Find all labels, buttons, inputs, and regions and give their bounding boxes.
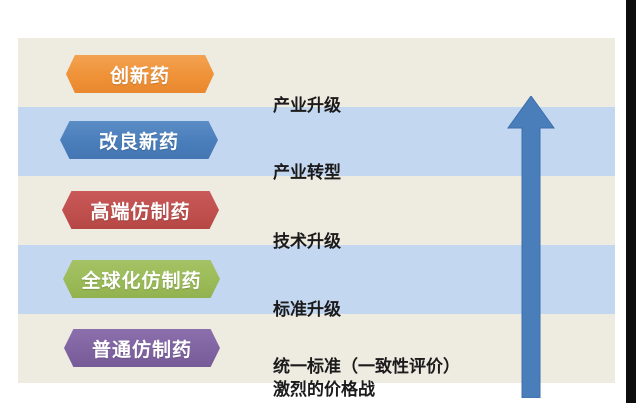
badge-label: 创新药: [110, 61, 170, 88]
caption-industry-transformation: 产业转型: [273, 162, 341, 185]
badge-label: 普通仿制药: [92, 335, 192, 362]
right-edge-strip: [626, 0, 636, 403]
caption-line-2: 激烈的价格战: [273, 379, 460, 402]
stage-panel: 创新药 改良新药 高端仿制药 全球化仿制药 普通仿制药 产业升级 产业转型 技术…: [18, 38, 615, 383]
caption-line-1: 统一标准（一致性评价）: [273, 356, 460, 379]
badge-label: 全球化仿制药: [81, 266, 201, 293]
diagram-canvas: 创新药 改良新药 高端仿制药 全球化仿制药 普通仿制药 产业升级 产业转型 技术…: [0, 0, 636, 403]
caption-standard-upgrade: 标准升级: [273, 299, 341, 322]
badge-high-end-generic: 高端仿制药: [62, 191, 219, 229]
badge-label: 高端仿制药: [90, 197, 190, 224]
upward-arrow-icon: [507, 96, 555, 398]
badge-ordinary-generic: 普通仿制药: [64, 329, 220, 367]
badge-label: 改良新药: [99, 127, 179, 154]
badge-improved-new-drug: 改良新药: [60, 121, 218, 159]
caption-technology-upgrade: 技术升级: [273, 231, 341, 254]
caption-industry-upgrade: 产业升级: [273, 95, 341, 118]
caption-unified-standard: 统一标准（一致性评价） 激烈的价格战: [273, 356, 460, 402]
badge-globalized-generic: 全球化仿制药: [63, 260, 220, 298]
badge-innovative-drug: 创新药: [66, 55, 214, 93]
